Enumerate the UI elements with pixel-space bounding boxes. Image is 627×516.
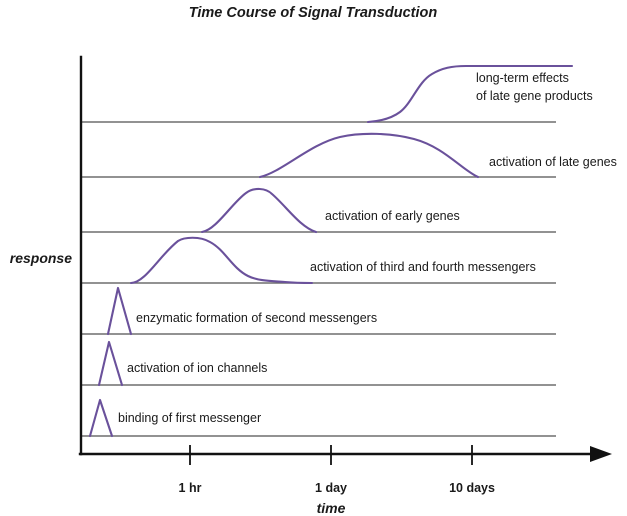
page-title: Time Course of Signal Transduction xyxy=(189,5,438,21)
curve-label-activation-of-late-genes: activation of late genes xyxy=(489,155,617,169)
x-tick-label-1hr: 1 hr xyxy=(179,481,202,495)
y-axis-title: response xyxy=(10,250,72,266)
signal-transduction-time-course-figure: Time Course of Signal Transduction 1 hr … xyxy=(0,0,627,516)
curve-label-binding-of-first-messenger: binding of first messenger xyxy=(118,411,261,425)
curve-label-long-term-effects-line2: of late gene products xyxy=(476,89,593,103)
x-tick-label-10days: 10 days xyxy=(449,481,495,495)
x-tick-label-1day: 1 day xyxy=(315,481,347,495)
curve-label-enzymatic-formation-of-second-messengers: enzymatic formation of second messengers xyxy=(136,311,377,325)
curve-label-activation-of-third-and-fourth-messengers: activation of third and fourth messenger… xyxy=(310,260,536,274)
curve-label-activation-of-early-genes: activation of early genes xyxy=(325,209,460,223)
curve-label-activation-of-ion-channels: activation of ion channels xyxy=(127,361,267,375)
curve-label-long-term-effects-line1: long-term effects xyxy=(476,71,569,85)
x-axis-title: time xyxy=(317,500,346,516)
